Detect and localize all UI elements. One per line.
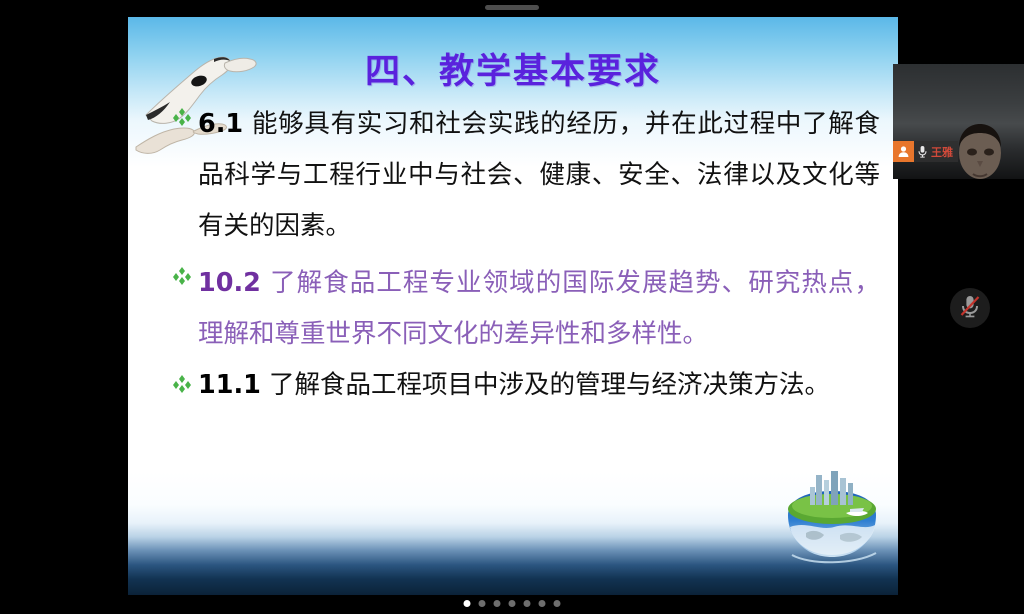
eco-globe-icon xyxy=(780,469,884,569)
participant-video-tile[interactable]: 王雅 xyxy=(893,64,1024,179)
bullet-item-2: 10.2 了解食品工程专业领域的国际发展趋势、研究热点，理解和尊重世界不同文化的… xyxy=(172,258,880,360)
slide-title: 四、教学基本要求 xyxy=(128,43,898,94)
bullet-number-3: 11.1 xyxy=(198,370,261,400)
bullet-text-2: 10.2 了解食品工程专业领域的国际发展趋势、研究热点，理解和尊重世界不同文化的… xyxy=(198,258,880,360)
green-diamond-bullet-icon xyxy=(172,374,192,394)
mute-toggle-button[interactable] xyxy=(950,288,990,328)
green-diamond-bullet-icon xyxy=(172,266,192,286)
screen-root: 四、教学基本要求 6.1 能够具有实习和社会实践的经历，并在此过程中了解食品科学… xyxy=(0,0,1024,614)
slide-dot-2[interactable] xyxy=(479,600,486,607)
slide-dot-4[interactable] xyxy=(509,600,516,607)
drag-handle[interactable] xyxy=(485,5,539,10)
slide-dot-7[interactable] xyxy=(554,600,561,607)
microphone-muted-icon xyxy=(958,293,982,324)
bullet-text-1: 6.1 能够具有实习和社会实践的经历，并在此过程中了解食品科学与工程行业中与社会… xyxy=(198,99,880,252)
slide-dot-5[interactable] xyxy=(524,600,531,607)
bullet-body-3: 了解食品工程项目中涉及的管理与经济决策方法。 xyxy=(261,370,830,400)
slide-dot-3[interactable] xyxy=(494,600,501,607)
green-diamond-bullet-icon xyxy=(172,107,192,127)
bullet-item-3: 11.1 了解食品工程项目中涉及的管理与经济决策方法。 xyxy=(172,366,880,405)
microphone-icon xyxy=(914,145,931,158)
participant-name-badge: 王雅 xyxy=(893,141,958,162)
participant-name: 王雅 xyxy=(931,144,958,160)
slide-body: 6.1 能够具有实习和社会实践的经历，并在此过程中了解食品科学与工程行业中与社会… xyxy=(172,99,880,411)
presentation-slide[interactable]: 四、教学基本要求 6.1 能够具有实习和社会实践的经历，并在此过程中了解食品科学… xyxy=(128,17,898,595)
bullet-item-1: 6.1 能够具有实习和社会实践的经历，并在此过程中了解食品科学与工程行业中与社会… xyxy=(172,99,880,252)
bullet-text-3: 11.1 了解食品工程项目中涉及的管理与经济决策方法。 xyxy=(198,366,880,405)
bullet-number-2: 10.2 xyxy=(198,268,261,298)
bullet-number-1: 6.1 xyxy=(198,109,243,139)
participant-webcam-image xyxy=(950,119,1010,179)
slide-nav-dots[interactable] xyxy=(464,600,561,607)
bullet-body-1: 能够具有实习和社会实践的经历，并在此过程中了解食品科学与工程行业中与社会、健康、… xyxy=(198,109,880,241)
bullet-body-2: 了解食品工程专业领域的国际发展趋势、研究热点，理解和尊重世界不同文化的差异性和多… xyxy=(198,268,880,349)
person-icon xyxy=(893,141,914,162)
slide-dot-6[interactable] xyxy=(539,600,546,607)
slide-dot-1[interactable] xyxy=(464,600,471,607)
